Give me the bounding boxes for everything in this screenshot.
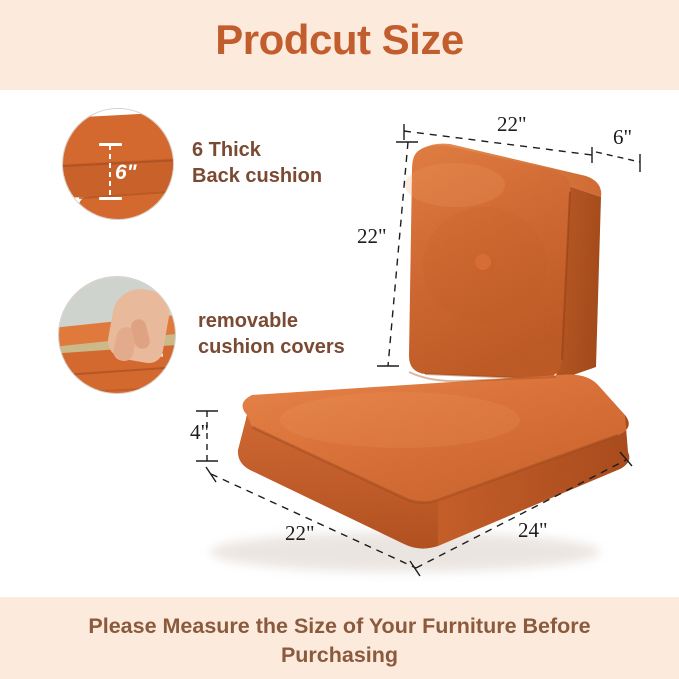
dimension-label-back-width: 22" bbox=[497, 112, 527, 137]
dimension-label-seat-width: 24" bbox=[518, 518, 548, 543]
seat-cushion-highlight bbox=[280, 392, 520, 448]
leader-back-depth bbox=[596, 152, 640, 162]
back-cushion bbox=[405, 144, 601, 381]
back-cushion-highlight bbox=[405, 163, 505, 207]
dimension-label-seat-depth: 22" bbox=[285, 521, 315, 546]
dimension-label-back-height: 22" bbox=[357, 224, 387, 249]
product-size-infographic: Prodcut Size 6" 6 Thick Back cushion bbox=[0, 0, 679, 679]
dimension-label-seat-thickness: 4" bbox=[190, 420, 209, 445]
dimension-label-back-depth: 6" bbox=[613, 125, 632, 150]
leader-back-height bbox=[388, 142, 408, 366]
product-illustration bbox=[0, 0, 679, 679]
footer-text: Please Measure the Size of Your Furnitur… bbox=[39, 612, 640, 669]
back-cushion-button-highlight bbox=[475, 254, 491, 270]
